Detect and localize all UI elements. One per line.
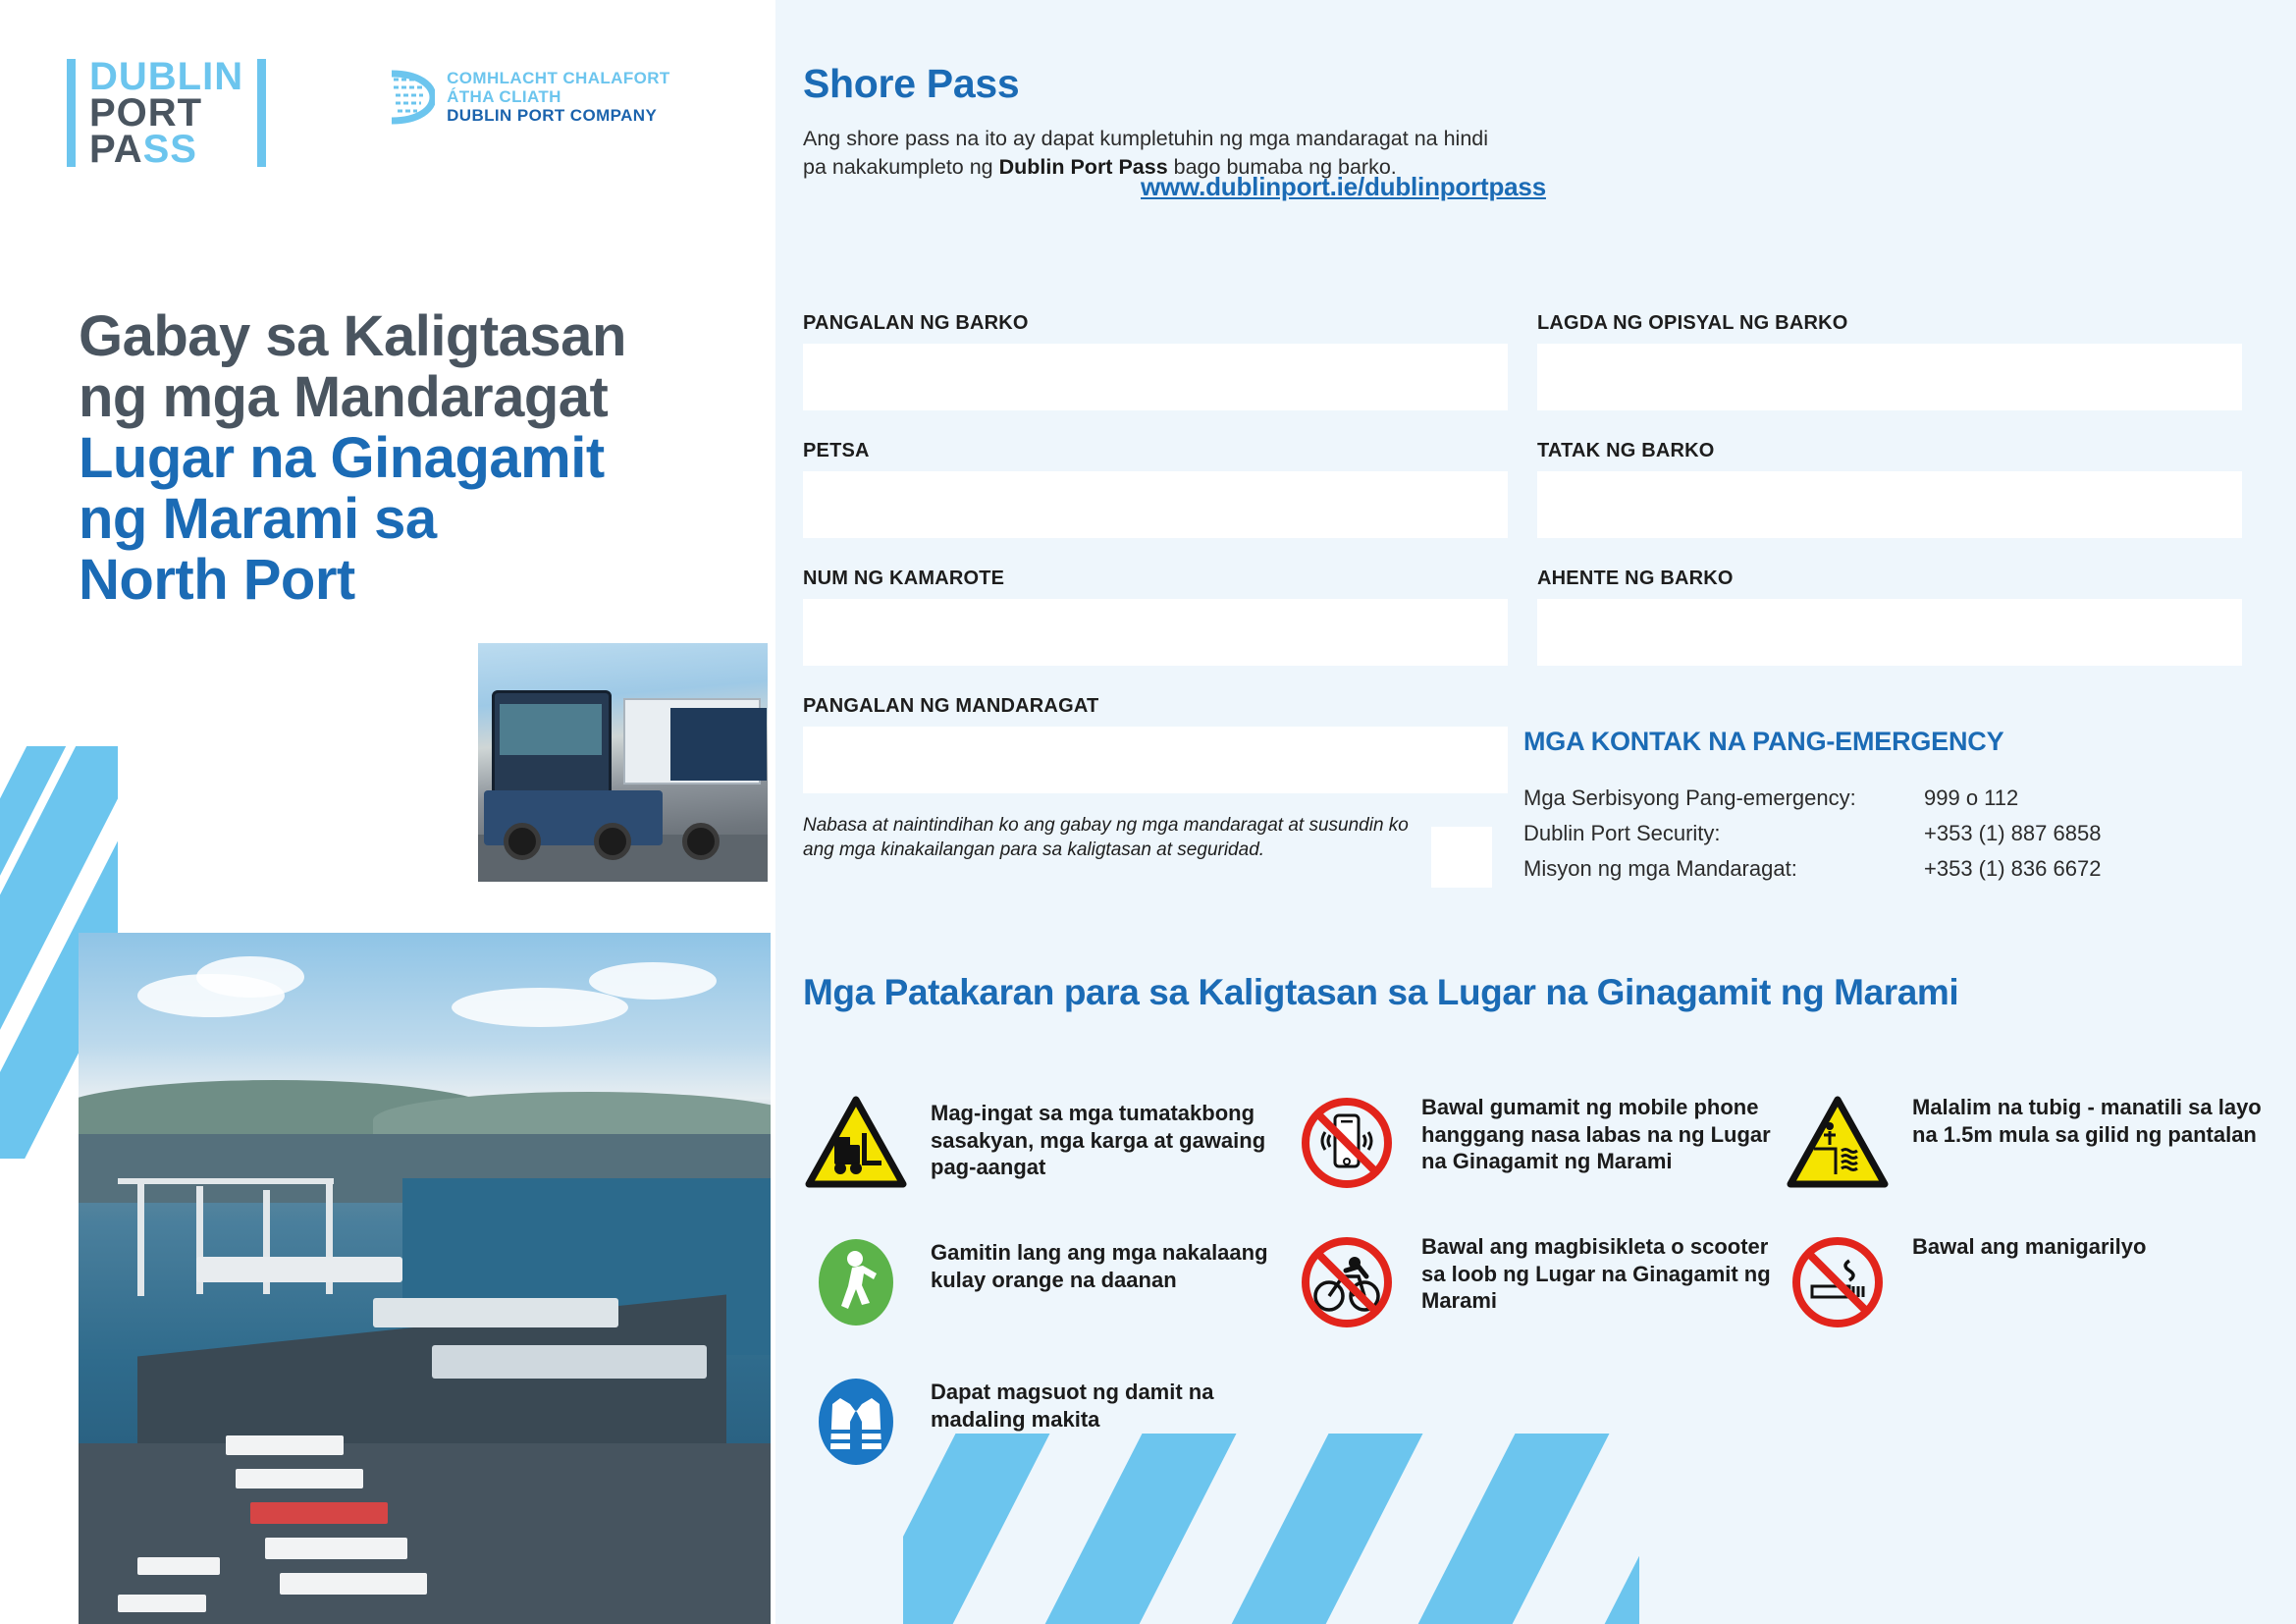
logo-pass-pa: PA	[89, 128, 143, 171]
safety-rule: Malalim na tubig - manatili sa layo na 1…	[1785, 1090, 2275, 1196]
field-tatak-ng-barko: TATAK NG BARKO	[1537, 440, 2242, 538]
declaration-row: Nabasa at naintindihan ko ang gabay ng m…	[803, 813, 1512, 888]
input-ahente-ng-barko[interactable]	[1537, 599, 2242, 666]
company-line-1: COMHLACHT CHALAFORT	[447, 69, 670, 87]
field-pangalan-ng-barko: PANGALAN NG BARKO	[803, 312, 1508, 410]
safety-rule: Dapat magsuot ng damit na madaling makit…	[803, 1369, 1294, 1475]
logo-right-bar	[257, 59, 266, 167]
safety-rules-column-2: Bawal gumamit ng mobile phone hanggang n…	[1294, 1090, 1785, 1508]
field-ahente-ng-barko: AHENTE NG BARKO	[1537, 568, 2242, 666]
emergency-label: Misyon ng mga Mandaragat:	[1523, 851, 1924, 887]
safety-rule: Bawal gumamit ng mobile phone hanggang n…	[1294, 1090, 1785, 1196]
logo-left-bar	[67, 59, 76, 167]
safety-rules-title: Mga Patakaran para sa Kaligtasan sa Luga…	[803, 972, 2275, 1012]
field-pangalan-ng-mandaragat: PANGALAN NG MANDARAGAT	[803, 695, 1508, 793]
input-pangalan-ng-mandaragat[interactable]	[803, 727, 1508, 793]
emergency-row: Dublin Port Security: +353 (1) 887 6858	[1523, 816, 2250, 851]
emergency-label: Mga Serbisyong Pang-emergency:	[1523, 781, 1924, 816]
terminal-tractor-photo	[478, 643, 768, 882]
input-petsa[interactable]	[803, 471, 1508, 538]
dublin-port-company-logo: COMHLACHT CHALAFORT ÁTHA CLIATH DUBLIN P…	[390, 59, 670, 125]
cover-title-line-1: Gabay sa Kaligtasan	[79, 306, 766, 367]
field-label: AHENTE NG BARKO	[1537, 568, 2242, 590]
cover-title: Gabay sa Kaligtasan ng mga Mandaragat Lu…	[79, 306, 766, 611]
emergency-title: MGA KONTAK NA PANG-EMERGENCY	[1523, 727, 2250, 757]
field-label: PANGALAN NG BARKO	[803, 312, 1508, 335]
safety-rule: Bawal ang manigarilyo	[1785, 1229, 2275, 1335]
pedestrian-walkway-icon	[803, 1229, 909, 1335]
field-num-ng-kamarote: NUM NG KAMAROTE	[803, 568, 1508, 666]
declaration-checkbox[interactable]	[1431, 827, 1492, 888]
field-label: PANGALAN NG MANDARAGAT	[803, 695, 1508, 718]
shore-pass-leaflet: DUBLIN PORT PASS COMHLACHT CHALAFORT ÁTH…	[0, 0, 2296, 1624]
safety-rule-text: Malalim na tubig - manatili sa layo na 1…	[1912, 1090, 2275, 1148]
company-line-3: DUBLIN PORT COMPANY	[447, 106, 670, 125]
deep-water-warning-icon	[1785, 1090, 1891, 1196]
safety-rule-text: Bawal ang magbisikleta o scooter sa loob…	[1421, 1229, 1785, 1315]
safety-rules-column-3: Malalim na tubig - manatili sa layo na 1…	[1785, 1090, 2275, 1508]
shore-pass-heading: Shore Pass	[803, 61, 1490, 107]
cover-title-line-2: ng mga Mandaragat	[79, 367, 766, 428]
port-aerial-photo	[79, 933, 771, 1624]
field-label: NUM NG KAMAROTE	[803, 568, 1508, 590]
no-smoking-icon	[1785, 1229, 1891, 1335]
dublin-port-pass-link[interactable]: www.dublinport.ie/dublinportpass	[1141, 172, 1546, 202]
safety-rule-text: Dapat magsuot ng damit na madaling makit…	[931, 1369, 1294, 1433]
photo-windscreen	[500, 704, 602, 755]
field-lagda-ng-opisyal-ng-barko: LAGDA NG OPISYAL NG BARKO	[1537, 312, 2242, 410]
form-panel: Shore Pass Ang shore pass na ito ay dapa…	[775, 0, 2296, 1624]
photo-wheel	[594, 823, 631, 860]
logo-pass-ss: SS	[143, 128, 197, 171]
safety-rule-text: Bawal gumamit ng mobile phone hanggang n…	[1421, 1090, 1785, 1175]
logo-line-pass: PASS	[89, 132, 243, 168]
port-wave-icon	[390, 70, 435, 125]
hi-vis-vest-icon	[803, 1369, 909, 1475]
company-line-2: ÁTHA CLIATH	[447, 87, 670, 106]
photo-trailer-dark	[670, 708, 767, 781]
field-label: PETSA	[803, 440, 1508, 462]
input-tatak-ng-barko[interactable]	[1537, 471, 2242, 538]
safety-rule-text: Mag-ingat sa mga tumatakbong sasakyan, m…	[931, 1090, 1294, 1181]
safety-rule: Bawal ang magbisikleta o scooter sa loob…	[1294, 1229, 1785, 1335]
cover-title-line-4: ng Marami sa	[79, 489, 766, 550]
shore-pass-header: Shore Pass Ang shore pass na ito ay dapa…	[803, 61, 1490, 181]
emergency-value: +353 (1) 887 6858	[1924, 816, 2101, 851]
safety-rules-column-1: Mag-ingat sa mga tumatakbong sasakyan, m…	[803, 1090, 1294, 1508]
cover-title-line-3: Lugar na Ginagamit	[79, 428, 766, 489]
no-mobile-phone-icon	[1294, 1090, 1400, 1196]
emergency-contacts: MGA KONTAK NA PANG-EMERGENCY Mga Serbisy…	[1523, 727, 2250, 887]
emergency-value: +353 (1) 836 6672	[1924, 851, 2101, 887]
forklift-warning-icon	[803, 1090, 909, 1196]
input-lagda-ng-opisyal[interactable]	[1537, 344, 2242, 410]
dublin-port-pass-logo: DUBLIN PORT PASS	[67, 59, 266, 167]
emergency-label: Dublin Port Security:	[1523, 816, 1924, 851]
safety-rule: Mag-ingat sa mga tumatakbong sasakyan, m…	[803, 1090, 1294, 1196]
input-num-ng-kamarote[interactable]	[803, 599, 1508, 666]
safety-rule-text: Bawal ang manigarilyo	[1912, 1229, 2146, 1261]
field-label: LAGDA NG OPISYAL NG BARKO	[1537, 312, 2242, 335]
photo-wheel	[682, 823, 720, 860]
declaration-text: Nabasa at naintindihan ko ang gabay ng m…	[803, 813, 1410, 863]
safety-rule: Gamitin lang ang mga nakalaang kulay ora…	[803, 1229, 1294, 1335]
no-bicycle-icon	[1294, 1229, 1400, 1335]
field-label: TATAK NG BARKO	[1537, 440, 2242, 462]
cover-panel: DUBLIN PORT PASS COMHLACHT CHALAFORT ÁTH…	[0, 0, 775, 1624]
emergency-row: Mga Serbisyong Pang-emergency: 999 o 112	[1523, 781, 2250, 816]
form-column-right: LAGDA NG OPISYAL NG BARKO TATAK NG BARKO…	[1537, 312, 2242, 695]
input-pangalan-ng-barko[interactable]	[803, 344, 1508, 410]
safety-rule-text: Gamitin lang ang mga nakalaang kulay ora…	[931, 1229, 1294, 1293]
logo-line-port: PORT	[89, 95, 243, 132]
photo-wheel	[504, 823, 541, 860]
logo-line-dublin: DUBLIN	[89, 59, 243, 95]
safety-rules-header: Mga Patakaran para sa Kaligtasan sa Luga…	[803, 972, 2275, 1012]
emergency-row: Misyon ng mga Mandaragat: +353 (1) 836 6…	[1523, 851, 2250, 887]
form-column-left: PANGALAN NG BARKO PETSA NUM NG KAMAROTE …	[803, 312, 1508, 823]
field-petsa: PETSA	[803, 440, 1508, 538]
logo-row: DUBLIN PORT PASS COMHLACHT CHALAFORT ÁTH…	[67, 59, 670, 167]
emergency-value: 999 o 112	[1924, 781, 2018, 816]
safety-rules-columns: Mag-ingat sa mga tumatakbong sasakyan, m…	[803, 1090, 2275, 1508]
cover-title-line-5: North Port	[79, 550, 766, 611]
